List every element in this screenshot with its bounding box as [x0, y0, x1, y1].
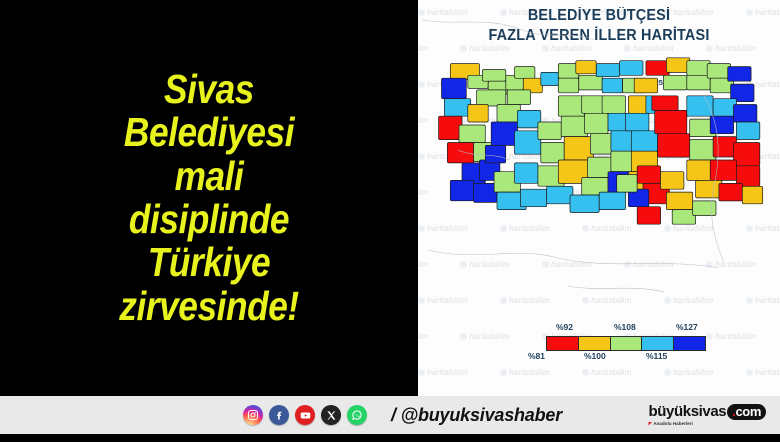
- legend-swatch-81: [547, 337, 578, 350]
- youtube-icon[interactable]: [295, 405, 315, 425]
- headline-text: Sivas Belediyesi mali disiplinde Türkiye…: [67, 68, 351, 329]
- province-region: [602, 96, 625, 114]
- province-region: [474, 183, 497, 202]
- province-region: [582, 96, 605, 114]
- province-region: [538, 122, 561, 140]
- province-region: [599, 192, 625, 210]
- province-region: [576, 61, 596, 74]
- legend-label-81: %81: [528, 351, 545, 361]
- province-region: [447, 143, 473, 163]
- site-logo[interactable]: büyüksivas.com ◤ Anadolu Haberleri: [649, 404, 766, 427]
- headline-panel: Sivas Belediyesi mali disiplinde Türkiye…: [0, 0, 418, 396]
- province-region: [561, 116, 587, 136]
- province-region: [637, 166, 660, 184]
- province-region: [482, 70, 505, 82]
- province-region: [713, 137, 736, 157]
- province-region: [687, 61, 710, 76]
- legend-label-100: %100: [584, 351, 606, 361]
- legend-swatch-100: [610, 337, 642, 350]
- province-region: [687, 160, 713, 180]
- legend-label-115: %115: [646, 351, 667, 361]
- province-region: [658, 134, 690, 157]
- province-region: [719, 183, 742, 201]
- province-region: [570, 195, 599, 213]
- x-twitter-icon[interactable]: [321, 405, 341, 425]
- province-region: [515, 131, 541, 154]
- province-region: [450, 180, 473, 200]
- whatsapp-icon[interactable]: [347, 405, 367, 425]
- province-region: [696, 180, 722, 198]
- province-region: [655, 110, 687, 133]
- social-icons: [243, 405, 367, 425]
- province-region: [507, 90, 530, 105]
- coastline: [422, 20, 594, 40]
- logo-com-badge: .com: [727, 404, 766, 420]
- province-region: [459, 125, 485, 143]
- footer-bar: / @buyuksivashaber büyüksivas.com ◤ Anad…: [0, 396, 780, 434]
- province-region: [707, 64, 730, 79]
- province-region: [558, 96, 584, 116]
- province-region: [517, 110, 540, 128]
- province-region: [558, 78, 578, 93]
- province-region: [661, 172, 684, 190]
- province-region: [710, 160, 736, 180]
- facebook-icon[interactable]: [269, 405, 289, 425]
- province-region: [734, 143, 760, 166]
- province-region: [547, 186, 573, 204]
- province-region: [477, 90, 506, 106]
- legend-color-bar: [546, 336, 706, 351]
- legend-swatch-92: [578, 337, 610, 350]
- province-region: [491, 122, 517, 145]
- province-region: [497, 105, 520, 123]
- province-region: [611, 151, 634, 171]
- headline-line: Belediyesi: [67, 111, 351, 154]
- province-region: [736, 122, 759, 140]
- province-region: [596, 64, 619, 77]
- legend-swatch-108: [641, 337, 673, 350]
- legend-label-127: %127: [676, 322, 698, 332]
- province-region: [690, 140, 716, 160]
- province-region: [541, 72, 559, 85]
- logo-text: büyüksivas: [649, 403, 727, 420]
- province-region: [620, 61, 643, 76]
- footer-bottom-edge: [0, 434, 780, 442]
- map-panel: haritabilimharitabilimharitabilimharitab…: [418, 0, 780, 396]
- province-region: [579, 75, 602, 90]
- province-region: [602, 78, 622, 93]
- province-region: [728, 67, 751, 82]
- province-region: [485, 145, 505, 163]
- logo-wordmark: büyüksivas.com: [649, 404, 766, 420]
- legend-swatch-115: [673, 337, 705, 350]
- legend-label-92: %92: [556, 322, 573, 332]
- province-region: [652, 96, 678, 111]
- coastline: [428, 250, 718, 268]
- province-region: [637, 207, 660, 225]
- province-region: [713, 99, 736, 117]
- social-media-news-card: Sivas Belediyesi mali disiplinde Türkiye…: [0, 0, 780, 442]
- instagram-icon[interactable]: [243, 405, 263, 425]
- headline-line: disiplinde: [67, 198, 351, 241]
- province-region: [646, 61, 669, 76]
- social-handle: / @buyuksivashaber: [391, 405, 562, 426]
- province-region: [617, 175, 637, 193]
- province-region: [631, 131, 657, 151]
- province-region: [468, 105, 488, 123]
- province-region: [742, 186, 762, 204]
- headline-line: Sivas: [67, 68, 351, 111]
- province-region: [439, 116, 462, 139]
- legend-label-108: %108: [614, 322, 636, 332]
- province-region: [687, 75, 710, 90]
- province-region: [663, 75, 686, 90]
- province-region: [666, 192, 692, 210]
- map-legend: %92 %108 %127 %81 %100 %115: [528, 318, 718, 366]
- headline-line: zirvesinde!: [67, 285, 351, 328]
- province-region: [444, 99, 470, 117]
- province-region: [442, 78, 467, 98]
- province-region: [585, 113, 608, 133]
- headline-line: mali: [67, 155, 351, 198]
- province-region: [515, 67, 535, 79]
- province-region: [693, 201, 716, 216]
- province-region: [672, 210, 695, 225]
- headline-line: Türkiye: [67, 241, 351, 284]
- province-region: [590, 134, 613, 154]
- province-region: [515, 163, 538, 183]
- logo-tagline: ◤ Anadolu Haberleri: [649, 422, 766, 427]
- coastline: [568, 286, 664, 292]
- province-region: [611, 131, 634, 151]
- province-region: [626, 113, 649, 131]
- province-region: [634, 78, 657, 93]
- province-region: [564, 137, 593, 160]
- province-region: [666, 58, 689, 73]
- province-region: [734, 105, 757, 123]
- province-region: [520, 189, 546, 207]
